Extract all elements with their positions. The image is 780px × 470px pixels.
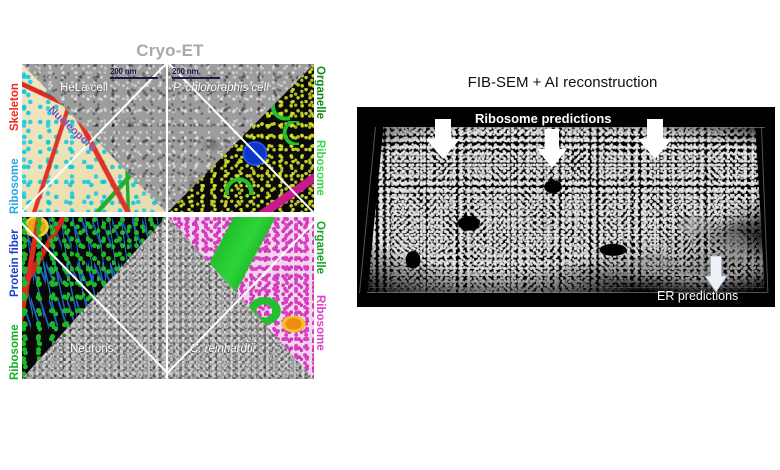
scale-bar-hela: 200 nm [110,67,158,79]
legend-label-ribosome-hela: Ribosome [9,158,21,214]
cryo-et-figure: Cryo-ET 200 nm HeLa cell Nucleopore 200 … [0,0,350,400]
cell-label-neurons: Neurons [70,343,113,355]
legend-label-organelle-pchlororaphis: Organelle [314,66,326,119]
scale-bar-line [110,77,158,79]
legend-label-ribosome-neurons: Ribosome [9,324,21,380]
cell-label-hela: HeLa cell [60,82,108,94]
legend-label-organelle-creinhardtii: Organelle [314,221,326,274]
cell-label-pchlororaphis: P. chlororaphis cell [173,82,269,94]
panel-neurons[interactable]: Neurons [22,217,166,379]
er-predictions-label: ER predictions [657,289,738,303]
cell-label-creinhardtii: C. reinhardtii [190,343,255,355]
cryo-et-panel-grid: 200 nm HeLa cell Nucleopore 200 nm P. ch… [22,64,314,379]
fib-sem-figure: FIB-SEM + AI reconstruction Ribosome pre… [350,0,780,330]
panel-p-chlororaphis-cell[interactable]: 200 nm P. chlororaphis cell [168,64,314,212]
volume-slab [365,127,765,293]
legend-label-ribosome-pchlororaphis: Ribosome [314,140,326,196]
scale-bar-pchlororaphis: 200 nm [172,67,220,79]
slab-edge-top [383,127,765,128]
scale-bar-line [172,77,220,79]
fib-sem-title: FIB-SEM + AI reconstruction [350,74,775,91]
legend-label-ribosome-creinhardtii: Ribosome [314,295,326,351]
panel-c-reinhardtii[interactable]: C. reinhardtii [168,217,314,379]
legend-label-protein-fiber: Protein fiber [9,229,21,297]
ribosome-predictions-label: Ribosome predictions [475,111,612,126]
slab-edge-bottom-inner [369,287,765,288]
volume-voids [365,127,765,293]
legend-label-skeleton: Skeleton [9,83,21,131]
cryo-et-title: Cryo-ET [0,41,340,61]
panel-hela-cell[interactable]: 200 nm HeLa cell Nucleopore [22,64,166,212]
fib-sem-volume-viewport[interactable]: Ribosome predictions ER predictions [357,107,775,307]
